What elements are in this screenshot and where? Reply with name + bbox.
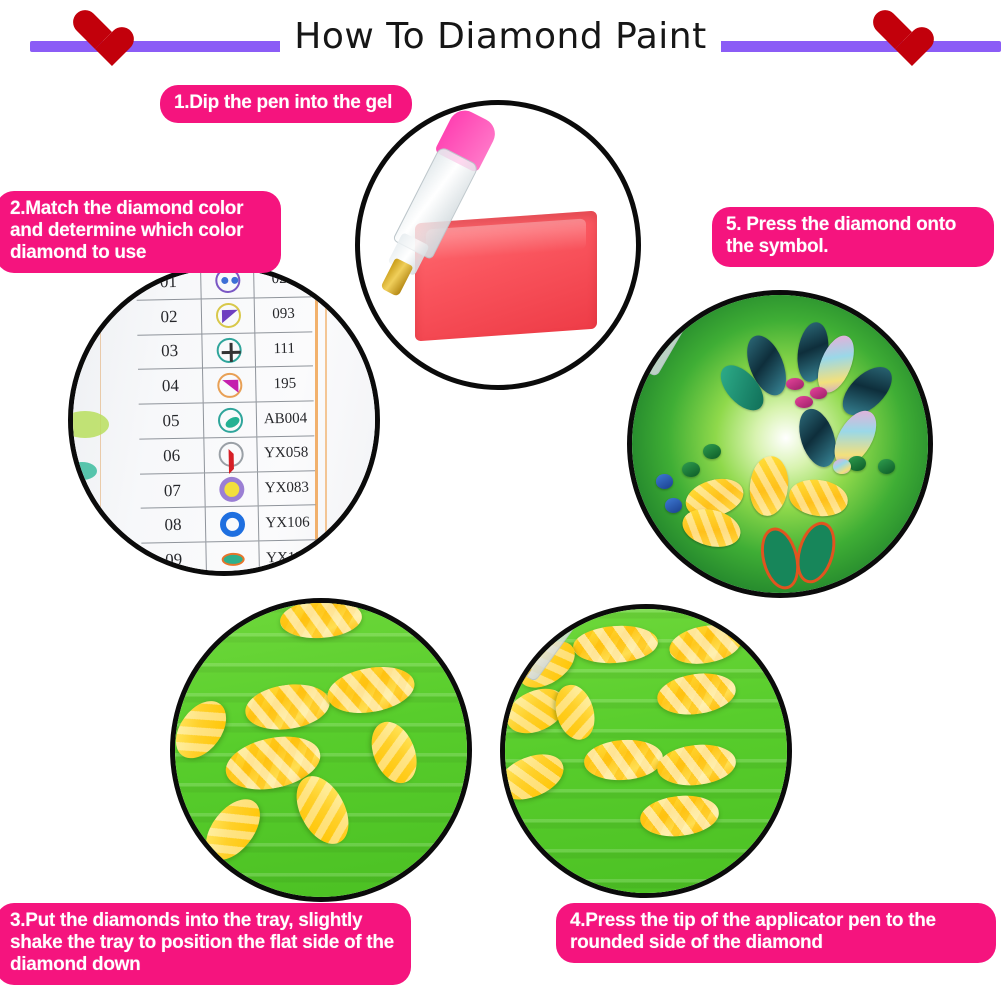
dot-glyph bbox=[224, 482, 239, 497]
row-code: YX125 bbox=[260, 541, 318, 576]
step-2-scene: 01 028 02 bbox=[73, 269, 375, 571]
ellipse-glyph bbox=[224, 414, 241, 429]
blue-ring-icon bbox=[220, 512, 245, 537]
teal-marquise-orange-outline-icon bbox=[220, 546, 245, 571]
row-number: 03 bbox=[138, 334, 204, 369]
canvas-dot bbox=[833, 459, 851, 474]
triangle-glyph bbox=[222, 379, 238, 392]
canvas-dot bbox=[665, 498, 683, 513]
step-4-photo-pen-pressing-diamond bbox=[500, 604, 792, 898]
color-chart-table: 01 028 02 bbox=[136, 264, 317, 576]
row-number: 09 bbox=[142, 543, 208, 576]
table-row: 06 YX058 bbox=[140, 436, 316, 474]
row-code: 111 bbox=[256, 332, 314, 367]
step-5-scene bbox=[632, 295, 928, 593]
eye-dot bbox=[221, 277, 228, 284]
row-code: YX083 bbox=[258, 471, 316, 506]
marquise-glyph bbox=[222, 552, 245, 565]
row-symbol bbox=[207, 542, 261, 576]
row-number: 06 bbox=[140, 438, 206, 473]
step-1-scene bbox=[360, 105, 636, 385]
canvas-dot bbox=[656, 474, 674, 489]
step-5-photo-diamond-onto-symbol bbox=[627, 290, 933, 598]
step-4-scene bbox=[505, 609, 787, 893]
row-number: 08 bbox=[141, 508, 207, 543]
teal-ellipse-icon bbox=[218, 407, 243, 432]
step-3-photo-diamonds-in-tray bbox=[170, 598, 472, 902]
step-2-caption: 2.Match the diamond color and determine … bbox=[0, 191, 281, 273]
magenta-triangle-icon bbox=[217, 372, 242, 397]
canvas-dot bbox=[848, 456, 866, 471]
row-number: 04 bbox=[138, 369, 204, 404]
table-row: 03 111 bbox=[138, 332, 314, 370]
row-code: YX106 bbox=[259, 506, 317, 541]
table-row: 08 YX106 bbox=[141, 506, 317, 544]
row-symbol bbox=[205, 437, 259, 472]
table-row: 04 195 bbox=[138, 367, 314, 405]
row-symbol bbox=[202, 298, 256, 333]
row-symbol bbox=[204, 368, 258, 403]
row-symbol bbox=[203, 333, 257, 368]
row-number: 02 bbox=[137, 299, 203, 334]
canvas-dot bbox=[795, 396, 813, 408]
pen-tip bbox=[380, 258, 413, 297]
table-row: 09 YX125 bbox=[142, 541, 318, 576]
step-3-scene bbox=[175, 603, 467, 897]
table-row: 02 093 bbox=[137, 297, 313, 335]
page-title: How To Diamond Paint bbox=[0, 16, 1001, 57]
row-symbol bbox=[206, 507, 260, 542]
table-row: 05 AB004 bbox=[139, 401, 315, 439]
row-number: 07 bbox=[140, 473, 206, 508]
eye-dot bbox=[231, 277, 238, 284]
step-1-caption: 1.Dip the pen into the gel bbox=[160, 85, 412, 123]
step-1-photo-pen-dipping-into-gel bbox=[355, 100, 641, 390]
row-code: 195 bbox=[256, 367, 314, 402]
step-5-caption: 5. Press the diamond onto the symbol. bbox=[712, 207, 994, 267]
step-2-photo-color-chart: 01 028 02 bbox=[68, 264, 380, 576]
canvas-dot bbox=[878, 459, 896, 474]
plus-sign-icon bbox=[216, 338, 241, 363]
yellow-dot-purple-ring-icon bbox=[219, 477, 244, 502]
step-3-caption: 3.Put the diamonds into the tray, slight… bbox=[0, 903, 411, 985]
canvas-dot bbox=[682, 462, 700, 477]
canvas-dot bbox=[703, 444, 721, 459]
table-row: 07 YX083 bbox=[140, 471, 316, 509]
row-code: 093 bbox=[255, 297, 313, 332]
chart-margin-line-right bbox=[325, 269, 327, 571]
purple-triangle-icon bbox=[216, 303, 241, 328]
infographic-canvas: How To Diamond Paint 1.Dip the pen into … bbox=[0, 0, 1001, 1001]
row-symbol bbox=[204, 403, 258, 438]
chevron-glyph bbox=[229, 449, 243, 474]
row-code: AB004 bbox=[257, 401, 315, 436]
step-4-caption: 4.Press the tip of the applicator pen to… bbox=[556, 903, 996, 963]
row-symbol bbox=[206, 472, 260, 507]
red-chevron-icon bbox=[218, 442, 243, 467]
row-code: YX058 bbox=[258, 436, 316, 471]
page-title-text: How To Diamond Paint bbox=[280, 16, 720, 57]
triangle-glyph bbox=[222, 310, 238, 323]
row-number: 05 bbox=[139, 404, 205, 439]
